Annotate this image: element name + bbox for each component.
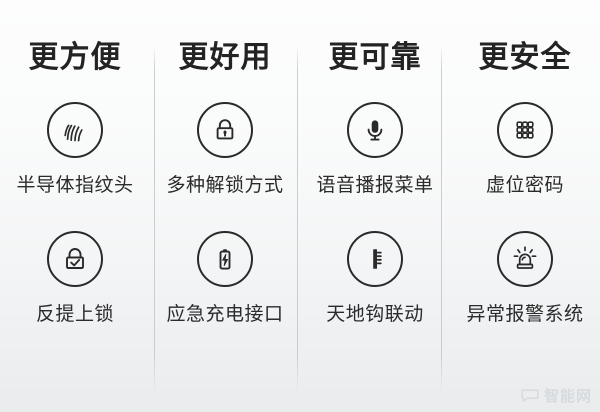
feature-label: 虚位密码 xyxy=(486,174,564,196)
feature-label: 语音播报菜单 xyxy=(316,174,433,196)
column-title: 更方便 xyxy=(29,41,122,75)
feature-label: 天地钩联动 xyxy=(326,303,424,325)
column-title: 更可靠 xyxy=(329,41,422,75)
feature-item[interactable]: 虚位密码 xyxy=(486,102,564,196)
feature-column-convenience: 更方便 半导体指纹头 xyxy=(0,0,150,412)
microphone-icon xyxy=(347,102,403,158)
alarm-siren-icon xyxy=(497,231,553,287)
padlock-icon xyxy=(197,102,253,158)
battery-charge-icon xyxy=(197,231,253,287)
feature-item[interactable]: 语音播报菜单 xyxy=(316,102,433,196)
fingerprint-icon xyxy=(47,102,103,158)
feature-label: 多种解锁方式 xyxy=(166,174,283,196)
lock-check-icon xyxy=(47,231,103,287)
feature-label: 半导体指纹头 xyxy=(16,174,133,196)
feature-item[interactable]: 应急充电接口 xyxy=(166,231,283,325)
feature-column-reliability: 更可靠 语音播报菜单 xyxy=(300,0,450,412)
feature-item[interactable]: 半导体指纹头 xyxy=(16,102,133,196)
feature-item[interactable]: 异常报警系统 xyxy=(466,231,583,325)
feature-label: 异常报警系统 xyxy=(466,303,583,325)
feature-columns: 更方便 半导体指纹头 xyxy=(0,0,600,412)
feature-column-usability: 更好用 多种解锁方式 xyxy=(150,0,300,412)
feature-item[interactable]: 多种解锁方式 xyxy=(166,102,283,196)
keypad-grid-icon xyxy=(497,102,553,158)
column-title: 更好用 xyxy=(179,41,272,75)
deadbolt-latch-icon xyxy=(347,231,403,287)
feature-item[interactable]: 天地钩联动 xyxy=(326,231,424,325)
feature-label: 反提上锁 xyxy=(36,303,114,325)
feature-grid-page: 更方便 半导体指纹头 xyxy=(0,0,600,412)
column-title: 更安全 xyxy=(479,41,572,75)
feature-column-security: 更安全 虚位密码 xyxy=(450,0,600,412)
feature-item[interactable]: 反提上锁 xyxy=(36,231,114,325)
feature-label: 应急充电接口 xyxy=(166,303,283,325)
